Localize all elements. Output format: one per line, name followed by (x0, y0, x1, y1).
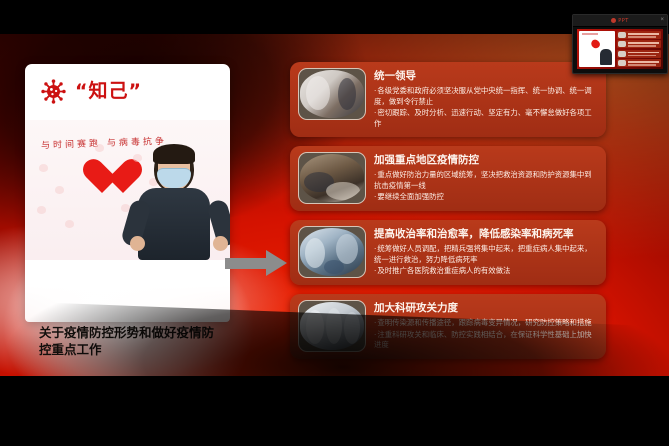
presentation-slide: “知己” 与时间赛跑 与病毒抗争 (0, 34, 669, 376)
right-arrow-icon (225, 250, 287, 276)
card-bullet: 注重科研攻关和临床、防控实践相结合，在保证科学性基础上加快进度 (374, 330, 598, 351)
card-thumbnail (298, 300, 366, 352)
preview-titlebar[interactable]: PPT × (573, 15, 667, 27)
card-thumbnail (298, 152, 366, 204)
measure-card[interactable]: 加强重点地区疫情防控 重点做好防治力量的区域统筹，坚决把救治资源和防护资源集中到… (290, 146, 606, 211)
preview-logo: PPT (611, 18, 629, 24)
card-title: 提高收治率和治愈率，降低感染率和病死率 (374, 227, 598, 241)
preview-card-list (617, 31, 661, 67)
card-bullet: 重点做好防治力量的区域统筹，坚决把救治资源和防护资源集中到抗击疫情第一线 (374, 170, 598, 191)
preview-content (577, 29, 663, 69)
close-icon[interactable]: × (660, 17, 664, 23)
card-bullet: 统筹做好人员调配，把精兵强将集中起来，把重症病人集中起来，统一进行救治，努力降低… (374, 244, 598, 265)
card-bullet: 要继续全面加强防控 (374, 192, 598, 203)
leader-photo: 与时间赛跑 与病毒抗争 (25, 120, 230, 260)
screen: “知己” 与时间赛跑 与病毒抗争 (0, 0, 669, 446)
card-thumbnail (298, 226, 366, 278)
left-caption-text: 关于疫情防控形势和做好疫情防控重点工作 (39, 324, 219, 358)
logo-dot-icon (611, 18, 616, 23)
preview-left-panel (579, 31, 615, 67)
left-white-panel: “知己” 与时间赛跑 与病毒抗争 (25, 64, 230, 322)
card-bullet: 及时推广各医院救治重症病人的有效做法 (374, 266, 598, 277)
virus-icon (41, 79, 66, 104)
measures-card-list: 统一领导 各级党委和政府必须坚决服从党中央统一指挥、统一协调、统一调度，做到令行… (290, 62, 606, 359)
floating-preview-window[interactable]: PPT × (572, 14, 668, 74)
panel-header: “知己” (25, 64, 230, 108)
card-title: 统一领导 (374, 69, 598, 83)
person-silhouette (132, 140, 224, 260)
card-title: 加大科研攻关力度 (374, 301, 598, 315)
card-thumbnail (298, 68, 366, 120)
card-bullet: 查明传染源和传播途径，跟踪病毒变异情况，研究防控策略和措施 (374, 318, 598, 329)
measure-card[interactable]: 统一领导 各级党委和政府必须坚决服从党中央统一指挥、统一协调、统一调度，做到令行… (290, 62, 606, 137)
preview-card (617, 50, 661, 58)
card-title: 加强重点地区疫情防控 (374, 153, 598, 167)
card-bullet: 各级党委和政府必须坚决服从党中央统一指挥、统一协调、统一调度，做到令行禁止 (374, 86, 598, 107)
red-heart-shape (81, 160, 123, 198)
panel-title: “知己” (75, 82, 142, 101)
preview-card (617, 59, 661, 67)
measure-card[interactable]: 加大科研攻关力度 查明传染源和传播途径，跟踪病毒变异情况，研究防控策略和措施 注… (290, 294, 606, 359)
preview-card (617, 31, 661, 39)
card-bullet: 密切跟踪、及时分析、迅速行动、坚定有力、毫不懈怠做好各项工作 (374, 108, 598, 129)
measure-card[interactable]: 提高收治率和治愈率，降低感染率和病死率 统筹做好人员调配，把精兵强将集中起来，把… (290, 220, 606, 285)
preview-card (617, 40, 661, 48)
preview-title: PPT (618, 18, 629, 24)
